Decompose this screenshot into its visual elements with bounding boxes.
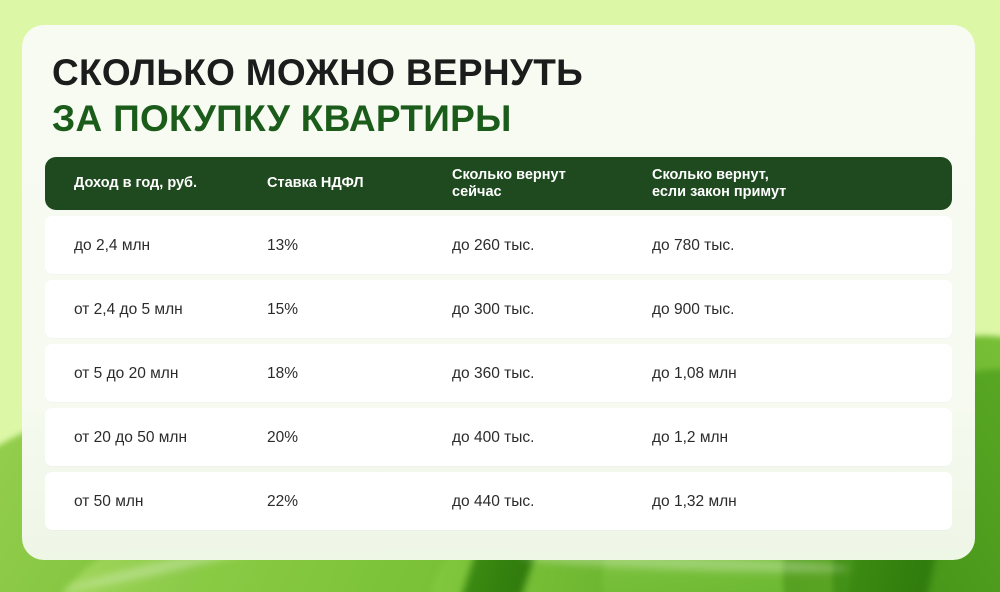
table-row: от 5 до 20 млн 18% до 360 тыс. до 1,08 м… (45, 344, 952, 402)
cell-refund-now: до 440 тыс. (452, 492, 652, 511)
cell-rate: 15% (267, 300, 452, 319)
page-title-line-2: ЗА ПОКУПКУ КВАРТИРЫ (52, 97, 975, 141)
cell-refund-if-law: до 900 тыс. (652, 300, 923, 319)
cell-income: от 5 до 20 млн (45, 364, 267, 383)
cell-income: от 20 до 50 млн (45, 428, 267, 447)
cell-refund-now: до 360 тыс. (452, 364, 652, 383)
column-header-refund-if-law: Сколько вернут, если закон примут (652, 167, 923, 201)
column-header-income: Доход в год, руб. (45, 175, 267, 192)
column-header-rate: Ставка НДФЛ (267, 175, 452, 192)
cell-refund-if-law: до 1,2 млн (652, 428, 923, 447)
column-header-refund-now: Сколько вернут сейчас (452, 167, 652, 201)
tax-refund-table: Доход в год, руб. Ставка НДФЛ Сколько ве… (45, 157, 952, 530)
cell-rate: 22% (267, 492, 452, 511)
cell-refund-if-law: до 1,08 млн (652, 364, 923, 383)
table-row: от 50 млн 22% до 440 тыс. до 1,32 млн (45, 472, 952, 530)
cell-income: от 50 млн (45, 492, 267, 511)
cell-income: от 2,4 до 5 млн (45, 300, 267, 319)
cell-refund-now: до 260 тыс. (452, 236, 652, 255)
cell-refund-now: до 300 тыс. (452, 300, 652, 319)
cell-refund-if-law: до 780 тыс. (652, 236, 923, 255)
infographic-card: СКОЛЬКО МОЖНО ВЕРНУТЬ ЗА ПОКУПКУ КВАРТИР… (22, 25, 975, 560)
page-title: СКОЛЬКО МОЖНО ВЕРНУТЬ ЗА ПОКУПКУ КВАРТИР… (22, 25, 975, 141)
table-row: от 20 до 50 млн 20% до 400 тыс. до 1,2 м… (45, 408, 952, 466)
table-row: до 2,4 млн 13% до 260 тыс. до 780 тыс. (45, 216, 952, 274)
cell-refund-if-law: до 1,32 млн (652, 492, 923, 511)
table-header-row: Доход в год, руб. Ставка НДФЛ Сколько ве… (45, 157, 952, 210)
cell-income: до 2,4 млн (45, 236, 267, 255)
cell-rate: 13% (267, 236, 452, 255)
cell-refund-now: до 400 тыс. (452, 428, 652, 447)
cell-rate: 20% (267, 428, 452, 447)
table-row: от 2,4 до 5 млн 15% до 300 тыс. до 900 т… (45, 280, 952, 338)
cell-rate: 18% (267, 364, 452, 383)
page-title-line-1: СКОЛЬКО МОЖНО ВЕРНУТЬ (52, 51, 975, 95)
